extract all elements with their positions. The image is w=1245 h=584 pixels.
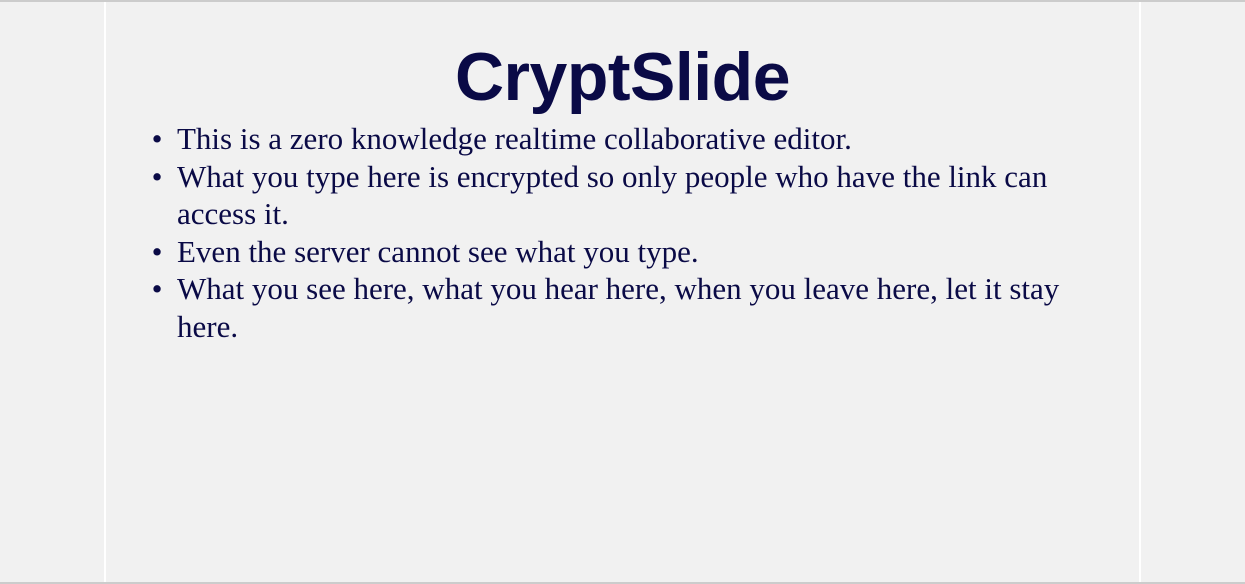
- bullet-item[interactable]: • What you type here is encrypted so onl…: [106, 158, 1139, 233]
- bullet-item[interactable]: • What you see here, what you hear here,…: [106, 270, 1139, 345]
- bullet-text: What you type here is encrypted so only …: [177, 159, 1047, 232]
- bullet-text: Even the server cannot see what you type…: [177, 234, 699, 269]
- bullet-list[interactable]: • This is a zero knowledge realtime coll…: [106, 120, 1139, 346]
- slide-title[interactable]: CryptSlide: [106, 38, 1139, 116]
- slide-surface[interactable]: CryptSlide • This is a zero knowledge re…: [106, 2, 1139, 582]
- bullet-marker-icon: •: [150, 120, 164, 158]
- bullet-text: This is a zero knowledge realtime collab…: [177, 121, 852, 156]
- right-gutter: [1140, 2, 1245, 582]
- slide-body[interactable]: • This is a zero knowledge realtime coll…: [106, 120, 1139, 346]
- bullet-text: What you see here, what you hear here, w…: [177, 271, 1059, 344]
- slide-viewport: CryptSlide • This is a zero knowledge re…: [0, 0, 1245, 584]
- bullet-marker-icon: •: [150, 270, 164, 308]
- left-gutter: [0, 2, 105, 582]
- bullet-marker-icon: •: [150, 158, 164, 196]
- slide-right-divider: [1139, 2, 1141, 582]
- bullet-item[interactable]: • Even the server cannot see what you ty…: [106, 233, 1139, 271]
- bullet-item[interactable]: • This is a zero knowledge realtime coll…: [106, 120, 1139, 158]
- bullet-marker-icon: •: [150, 233, 164, 271]
